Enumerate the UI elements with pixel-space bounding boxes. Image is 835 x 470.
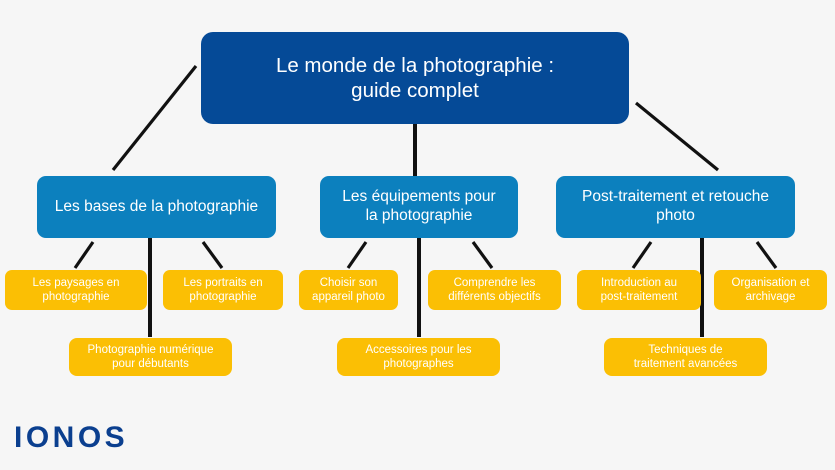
connector-branch-3-leaf-2 xyxy=(757,242,776,268)
root-node-label-line1: Le monde de la photographie : xyxy=(276,53,554,78)
leaf-node-3-2[interactable]: Organisation et archivage xyxy=(714,270,827,310)
leaf-node-1-1-label-line1: Les paysages en xyxy=(33,276,120,290)
leaf-node-3-3-label-line1: Techniques de xyxy=(648,343,722,357)
branch-node-1-label-line1: Les bases de la photographie xyxy=(55,198,258,217)
branch-node-2-label-line1: Les équipements pour xyxy=(342,188,495,207)
leaf-node-1-2-label-line2: photographie xyxy=(189,290,256,304)
root-node[interactable]: Le monde de la photographie : guide comp… xyxy=(201,32,629,124)
leaf-node-1-2-label-line1: Les portraits en xyxy=(183,276,262,290)
leaf-node-2-1-label-line2: appareil photo xyxy=(312,290,385,304)
branch-node-2-label-line2: la photographie xyxy=(366,207,473,226)
connector-branch-1-leaf-2 xyxy=(203,242,222,268)
leaf-node-2-2-label-line2: différents objectifs xyxy=(448,290,540,304)
leaf-node-3-3-label-line2: traitement avancées xyxy=(634,357,738,371)
leaf-node-3-2-label-line1: Organisation et xyxy=(732,276,810,290)
leaf-node-1-1[interactable]: Les paysages en photographie xyxy=(5,270,147,310)
leaf-node-3-1[interactable]: Introduction au post-traitement xyxy=(577,270,701,310)
leaf-node-1-3[interactable]: Photographie numérique pour débutants xyxy=(69,338,232,376)
connector-branch-2-leaf-1 xyxy=(348,242,366,268)
leaf-node-2-3-label-line1: Accessoires pour les xyxy=(365,343,471,357)
leaf-node-3-1-label-line2: post-traitement xyxy=(601,290,678,304)
leaf-node-3-1-label-line1: Introduction au xyxy=(601,276,677,290)
connector-root-to-branch-1 xyxy=(113,66,196,170)
branch-node-2[interactable]: Les équipements pour la photographie xyxy=(320,176,518,238)
leaf-node-1-3-label-line2: pour débutants xyxy=(112,357,189,371)
leaf-node-1-2[interactable]: Les portraits en photographie xyxy=(163,270,283,310)
leaf-node-2-2-label-line1: Comprendre les xyxy=(454,276,536,290)
connector-root-to-branch-3 xyxy=(636,103,718,170)
leaf-node-2-3[interactable]: Accessoires pour les photographes xyxy=(337,338,500,376)
diagram-canvas: Le monde de la photographie : guide comp… xyxy=(0,0,835,470)
leaf-node-2-2[interactable]: Comprendre les différents objectifs xyxy=(428,270,561,310)
ionos-logo: IONOS xyxy=(14,421,128,455)
connector-branch-1-leaf-1 xyxy=(75,242,93,268)
leaf-node-3-2-label-line2: archivage xyxy=(746,290,796,304)
branch-node-1[interactable]: Les bases de la photographie xyxy=(37,176,276,238)
branch-node-3-label-line2: photo xyxy=(656,207,695,226)
branch-node-3[interactable]: Post-traitement et retouche photo xyxy=(556,176,795,238)
leaf-node-1-1-label-line2: photographie xyxy=(42,290,109,304)
connector-branch-3-leaf-1 xyxy=(633,242,651,268)
connector-branch-2-leaf-2 xyxy=(473,242,492,268)
branch-node-3-label-line1: Post-traitement et retouche xyxy=(582,188,769,207)
leaf-node-2-1-label-line1: Choisir son xyxy=(320,276,378,290)
leaf-node-2-3-label-line2: photographes xyxy=(383,357,453,371)
leaf-node-3-3[interactable]: Techniques de traitement avancées xyxy=(604,338,767,376)
root-node-label-line2: guide complet xyxy=(351,78,479,103)
leaf-node-1-3-label-line1: Photographie numérique xyxy=(88,343,214,357)
leaf-node-2-1[interactable]: Choisir son appareil photo xyxy=(299,270,398,310)
